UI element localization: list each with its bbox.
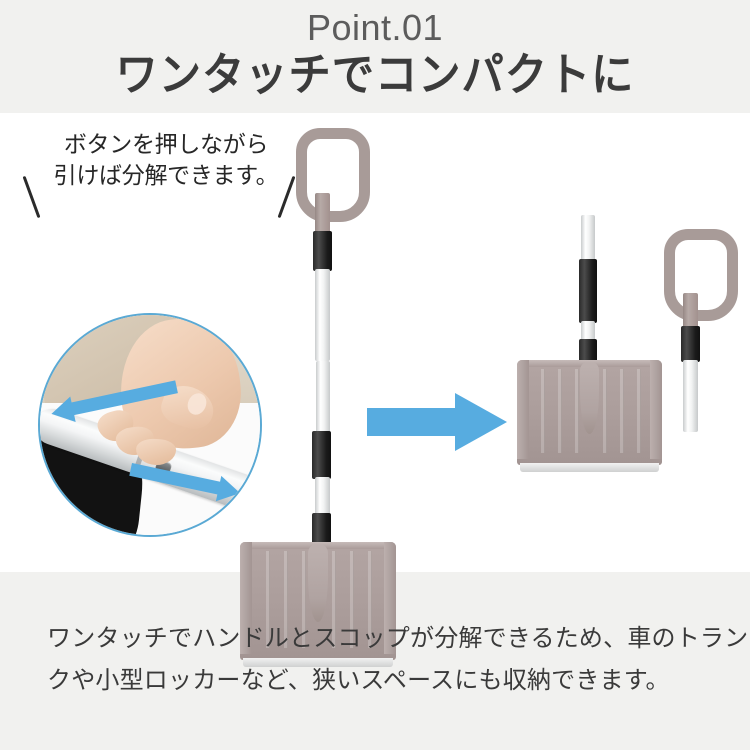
callout-line-2: 引けば分解できます。 — [36, 160, 296, 191]
scoop-detached — [517, 360, 662, 465]
grip-upper — [313, 231, 332, 271]
hand-photo-circle — [38, 313, 262, 537]
caption-line-2: クや小型ロッカーなど、狭いスペースにも収納できます。 — [47, 660, 719, 702]
handle-grip-detached — [681, 326, 700, 362]
transform-arrow-icon — [367, 393, 507, 451]
d-handle-loop-detached — [664, 229, 738, 321]
product-feature-slide: Point.01 ワンタッチでコンパクトに ボタンを押しながら 引けば分解できま… — [0, 0, 750, 750]
point-label: Point.01 — [0, 6, 750, 50]
stub-shaft-mid — [581, 321, 595, 341]
caption-line-1: ワンタッチでハンドルとスコップが分解できるため、車のトラン — [47, 618, 719, 660]
grip-bottom — [312, 513, 331, 545]
handle-neck — [315, 193, 330, 235]
d-handle-loop — [296, 128, 370, 222]
page-title: ワンタッチでコンパクトに — [23, 47, 728, 103]
illustration-panel: ボタンを押しながら 引けば分解できます。 — [0, 113, 750, 572]
handle-shaft-detached — [683, 360, 698, 432]
shaft-lower — [315, 477, 330, 515]
callout-text: ボタンを押しながら 引けば分解できます。 — [36, 129, 296, 191]
callout-line-1: ボタンを押しながら — [36, 129, 296, 160]
grip-lower — [312, 431, 331, 479]
caption-text: ワンタッチでハンドルとスコップが分解できるため、車のトラン クや小型ロッカーなど… — [47, 618, 719, 702]
header: Point.01 ワンタッチでコンパクトに — [0, 0, 750, 113]
stub-grip-upper — [579, 259, 597, 323]
stub-shaft-top — [581, 215, 595, 261]
shaft-middle — [316, 361, 330, 433]
shaft-upper — [315, 269, 330, 361]
handle-neck-detached — [683, 293, 698, 329]
